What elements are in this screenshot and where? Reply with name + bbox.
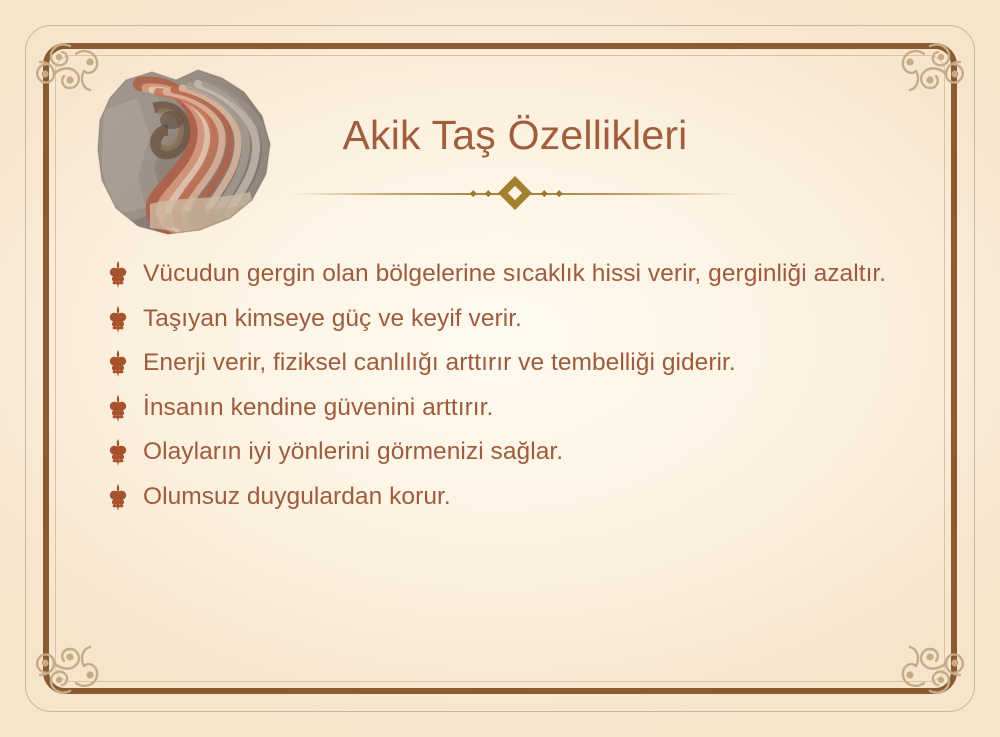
corner-ornament-bottom-left bbox=[18, 595, 142, 719]
list-item: İnsanın kendine güvenini arttırır. bbox=[105, 392, 895, 425]
fleur-de-lis-icon bbox=[105, 260, 131, 290]
akik-stone-photo bbox=[80, 58, 298, 240]
benefit-text: Enerji verir, fiziksel canlılığı arttırı… bbox=[143, 347, 736, 380]
divider-dot bbox=[485, 190, 491, 196]
diamond-ornament-icon bbox=[498, 176, 532, 210]
benefit-text: Vücudun gergin olan bölgelerine sıcaklık… bbox=[143, 258, 886, 291]
divider-dot bbox=[470, 190, 476, 196]
benefit-text: Olumsuz duygulardan korur. bbox=[143, 481, 451, 514]
fleur-de-lis-icon bbox=[105, 349, 131, 379]
page-title: Akik Taş Özellikleri bbox=[290, 112, 740, 159]
title-divider bbox=[290, 177, 740, 211]
divider-dot bbox=[541, 190, 547, 196]
title-block: Akik Taş Özellikleri bbox=[290, 112, 740, 211]
list-item: Vücudun gergin olan bölgelerine sıcaklık… bbox=[105, 258, 895, 291]
divider-dot bbox=[556, 190, 562, 196]
fleur-de-lis-icon bbox=[105, 438, 131, 468]
list-item: Olayların iyi yönlerini görmenizi sağlar… bbox=[105, 436, 895, 469]
list-item: Taşıyan kimseye güç ve keyif verir. bbox=[105, 303, 895, 336]
akik-stone-info-card: Akik Taş Özellikleri bbox=[0, 0, 1000, 737]
fleur-de-lis-icon bbox=[105, 394, 131, 424]
list-item: Olumsuz duygulardan korur. bbox=[105, 481, 895, 514]
fleur-de-lis-icon bbox=[105, 483, 131, 513]
list-item: Enerji verir, fiziksel canlılığı arttırı… bbox=[105, 347, 895, 380]
fleur-de-lis-icon bbox=[105, 305, 131, 335]
benefits-list: Vücudun gergin olan bölgelerine sıcaklık… bbox=[105, 258, 895, 525]
benefit-text: İnsanın kendine güvenini arttırır. bbox=[143, 392, 493, 425]
benefit-text: Taşıyan kimseye güç ve keyif verir. bbox=[143, 303, 522, 336]
corner-ornament-top-right bbox=[858, 18, 982, 142]
benefit-text: Olayların iyi yönlerini görmenizi sağlar… bbox=[143, 436, 563, 469]
corner-ornament-bottom-right bbox=[858, 595, 982, 719]
